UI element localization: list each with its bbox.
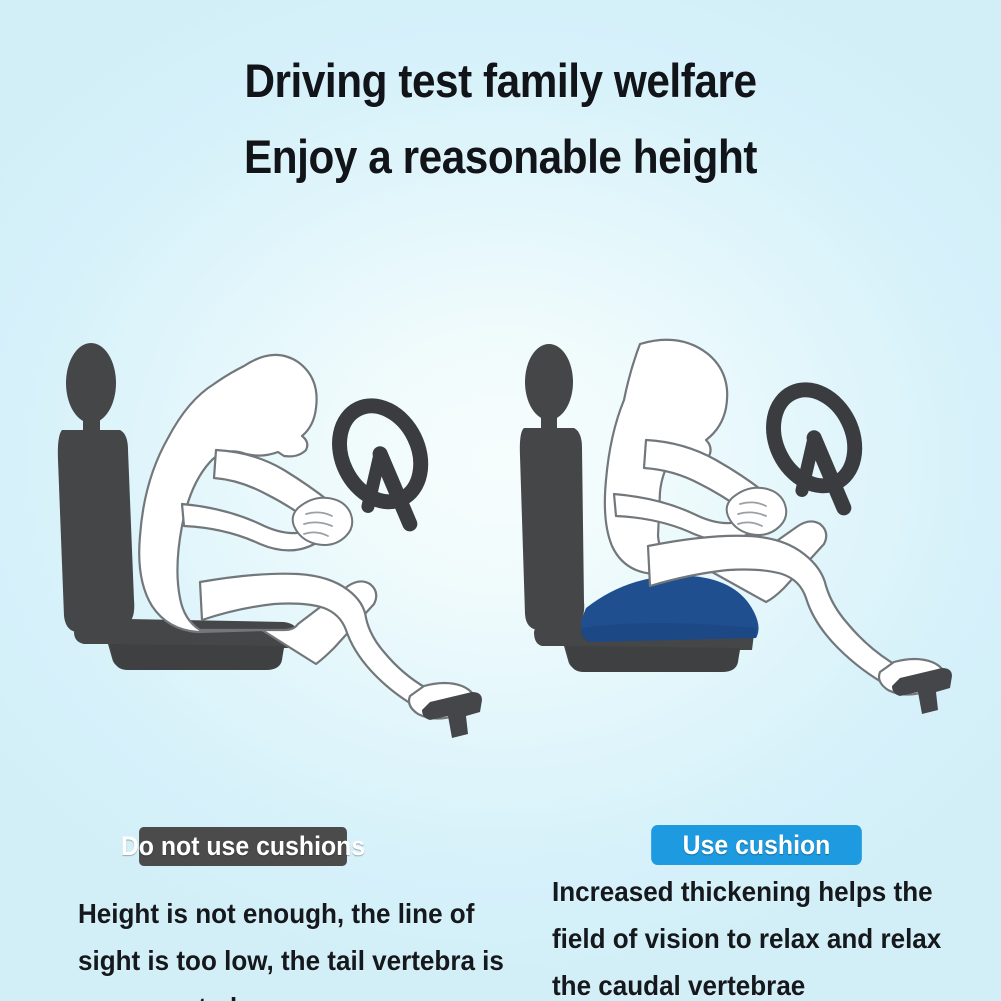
seat-base-lower-icon	[110, 644, 284, 670]
status-badge-use-cushion: Use cushion	[651, 825, 862, 865]
caption-without-cushion: Height is not enough, the line of sight …	[78, 890, 515, 1001]
headrest-stem-icon	[83, 410, 100, 432]
illustration-without-cushion	[48, 330, 508, 770]
illustration-with-cushion	[512, 330, 972, 770]
headrest-stem-icon	[541, 408, 557, 430]
caption-with-cushion: Increased thickening helps the field of …	[552, 868, 943, 1001]
page-title-line-1: Driving test family welfare	[50, 55, 951, 107]
page-title-line-2: Enjoy a reasonable height	[50, 131, 951, 183]
driver-hand	[727, 488, 787, 535]
driver-hand	[293, 498, 353, 545]
poster-canvas: Driving test family welfare Enjoy a reas…	[0, 0, 1001, 1001]
status-badge-do-not-use-cushions: Do not use cushions	[139, 827, 347, 866]
seat-backrest-icon	[58, 430, 134, 632]
seat-base-lower-icon	[566, 646, 740, 672]
seat-backrest-icon	[520, 428, 584, 630]
